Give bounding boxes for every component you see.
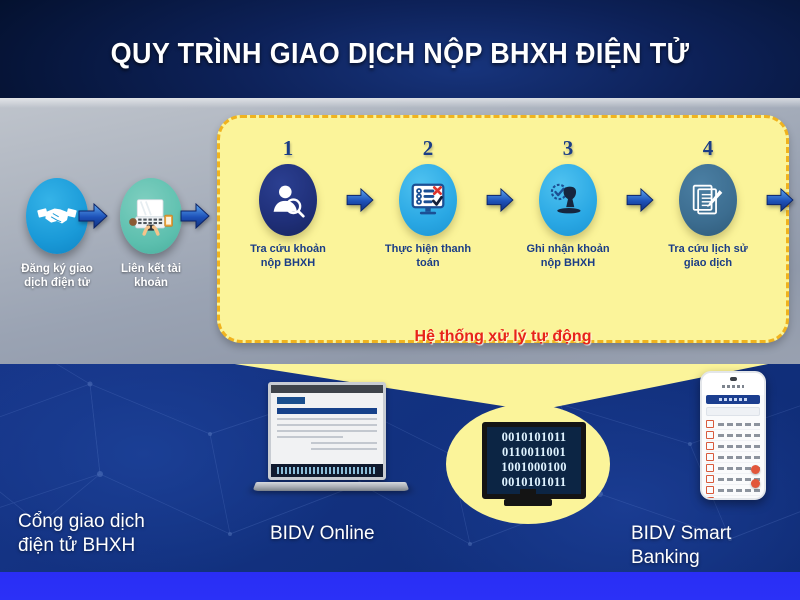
menu-item-icon: [706, 464, 714, 472]
flow-arrow-1: [78, 203, 108, 229]
channel-label-bidv-online: BIDV Online: [270, 522, 375, 546]
bottom-accent-strip: [0, 572, 800, 600]
phone-menu-item[interactable]: [706, 496, 760, 500]
automatic-process-panel: 1 Tra cứu khoản nộp BHXH 2: [217, 115, 789, 343]
phone-menu-item[interactable]: [706, 452, 760, 463]
binary-monitor-icon: 0010101011 0110011001 1001000100 0010101…: [446, 404, 610, 524]
laptop-workspace-icon: [120, 178, 182, 254]
binary-line: 0010101011: [487, 475, 581, 490]
flow-arrow-7: [766, 188, 794, 212]
step-number: 2: [380, 138, 476, 158]
laptop-screen-brand: [277, 397, 377, 404]
pre-step-link-account[interactable]: Liên kết tài khoản: [105, 178, 197, 290]
process-step-1[interactable]: 1 Tra cứu khoản nộp BHXH: [240, 138, 336, 270]
menu-item-icon: [706, 453, 714, 461]
menu-item-icon: [706, 475, 714, 483]
phone-menu-item[interactable]: [706, 419, 760, 430]
flow-arrow-4: [486, 188, 514, 212]
binary-line: 1001000100: [487, 460, 581, 475]
step-label: Tra cứu khoản nộp BHXH: [240, 243, 336, 270]
process-step-4[interactable]: 4 Tra cứu lịch sử giao dịch: [660, 138, 756, 270]
menu-item-icon: [706, 442, 714, 450]
flow-arrow-2: [180, 203, 210, 229]
step-label: Tra cứu lịch sử giao dịch: [660, 243, 756, 270]
menu-item-icon: [706, 486, 714, 494]
user-search-icon: [259, 164, 317, 236]
phone-statusbar: [702, 373, 764, 395]
step-label: Ghi nhận khoản nộp BHXH: [520, 243, 616, 270]
binary-line: 0010101011: [487, 430, 581, 445]
pre-step-register[interactable]: Đăng ký giao dịch điện tử: [11, 178, 103, 290]
menu-item-icon: [706, 431, 714, 439]
phone-search-field[interactable]: [706, 407, 760, 416]
phone-menu-list[interactable]: [706, 419, 760, 500]
phone-header-text: [722, 385, 744, 388]
pre-step-label: Liên kết tài khoản: [105, 262, 197, 290]
laptop-screen-topbar: [271, 385, 383, 393]
laptop-keyboard-base: [252, 482, 409, 491]
phone-menu-item[interactable]: [706, 430, 760, 441]
laptop-bidv-online[interactable]: [256, 382, 406, 498]
stamp-approved-icon: [539, 164, 597, 236]
process-step-2[interactable]: 2 Thực hiện thanh toán: [380, 138, 476, 270]
automatic-system-caption: Hệ thống xử lý tự động: [220, 328, 786, 346]
header-banner: QUY TRÌNH GIAO DỊCH NỘP BHXH ĐIỆN TỬ: [0, 0, 800, 98]
menu-item-icon: [706, 420, 714, 428]
flow-arrow-3: [346, 188, 374, 212]
document-pen-icon: [679, 164, 737, 236]
laptop-screen: [268, 382, 386, 480]
step-number: 4: [660, 138, 756, 158]
laptop-screen-navbar: [277, 408, 377, 414]
flow-arrow-5: [626, 188, 654, 212]
laptop-screen-footer: [271, 464, 383, 477]
channel-label-smart-banking: BIDV Smart Banking: [631, 522, 800, 570]
binary-line: 0110011001: [487, 445, 581, 460]
phone-speaker: [730, 377, 737, 381]
phone-fab-secondary[interactable]: [751, 479, 760, 488]
step-label: Thực hiện thanh toán: [380, 243, 476, 270]
checklist-monitor-icon: [399, 164, 457, 236]
infographic-canvas: QUY TRÌNH GIAO DỊCH NỘP BHXH ĐIỆN TỬ Đăn…: [0, 0, 800, 600]
smartphone-bidv-app[interactable]: [700, 371, 766, 500]
process-step-3[interactable]: 3 Ghi nhận khoản nộp BHXH: [520, 138, 616, 270]
pre-step-label: Đăng ký giao dịch điện tử: [11, 262, 103, 290]
page-title: QUY TRÌNH GIAO DỊCH NỘP BHXH ĐIỆN TỬ: [28, 38, 772, 71]
channel-label-portal: Cổng giao dịch điện tử BHXH: [18, 510, 145, 558]
step-number: 3: [520, 138, 616, 158]
binary-monitor-screen: 0010101011 0110011001 1001000100 0010101…: [482, 422, 586, 499]
channels-band: Cổng giao dịch điện tử BHXH BIDV Online: [0, 364, 800, 600]
step-number: 1: [240, 138, 336, 158]
phone-fab-primary[interactable]: [751, 465, 760, 474]
menu-item-icon: [706, 497, 714, 500]
phone-app-titlebar: [706, 395, 760, 404]
phone-menu-item[interactable]: [706, 441, 760, 452]
monitor-stand-foot: [504, 499, 552, 506]
